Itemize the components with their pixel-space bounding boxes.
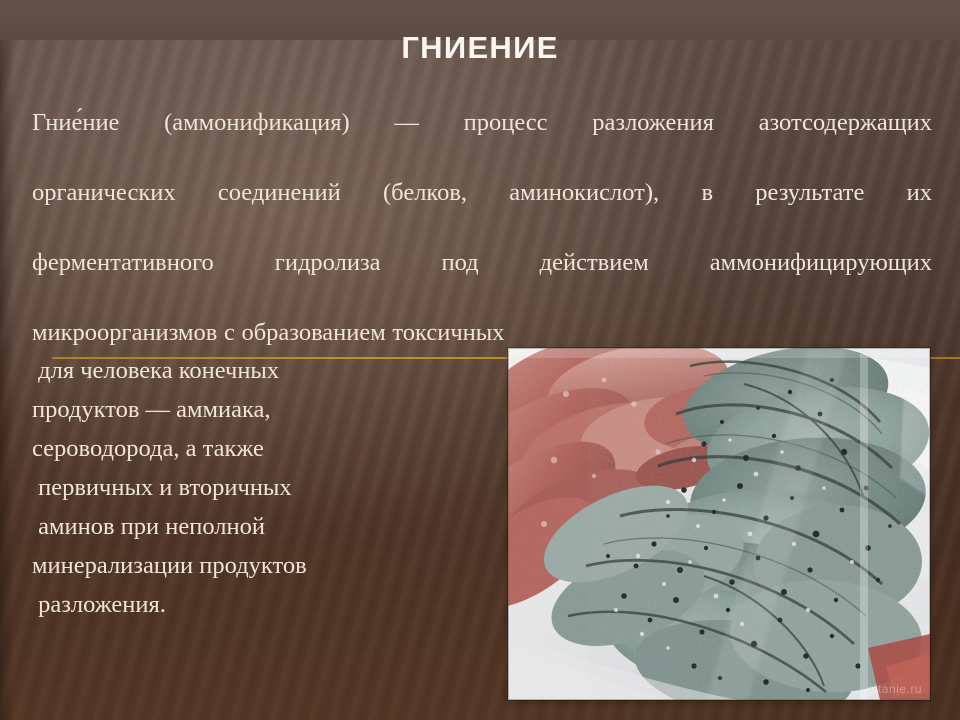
body-paragraph: Гние́ние (аммонификация) — процесс разло… [0,105,960,350]
presentation-slide: ГНИЕНИЕ Гние́ние (аммонификация) — проце… [0,0,960,720]
paragraph-line: органических соединений (белков, аминоки… [32,175,932,245]
paragraph-line: Гние́ние (аммонификация) — процесс разло… [32,105,932,175]
moldy-sausage-slices-illustration [508,348,930,700]
paragraph-line: ферментативного гидролиза под действием … [32,245,932,315]
paragraph-line: микроорганизмов с образованием токсичных [32,315,932,350]
page-title: ГНИЕНИЕ [0,30,960,66]
slide-photo: pitanie.ru [508,348,930,700]
